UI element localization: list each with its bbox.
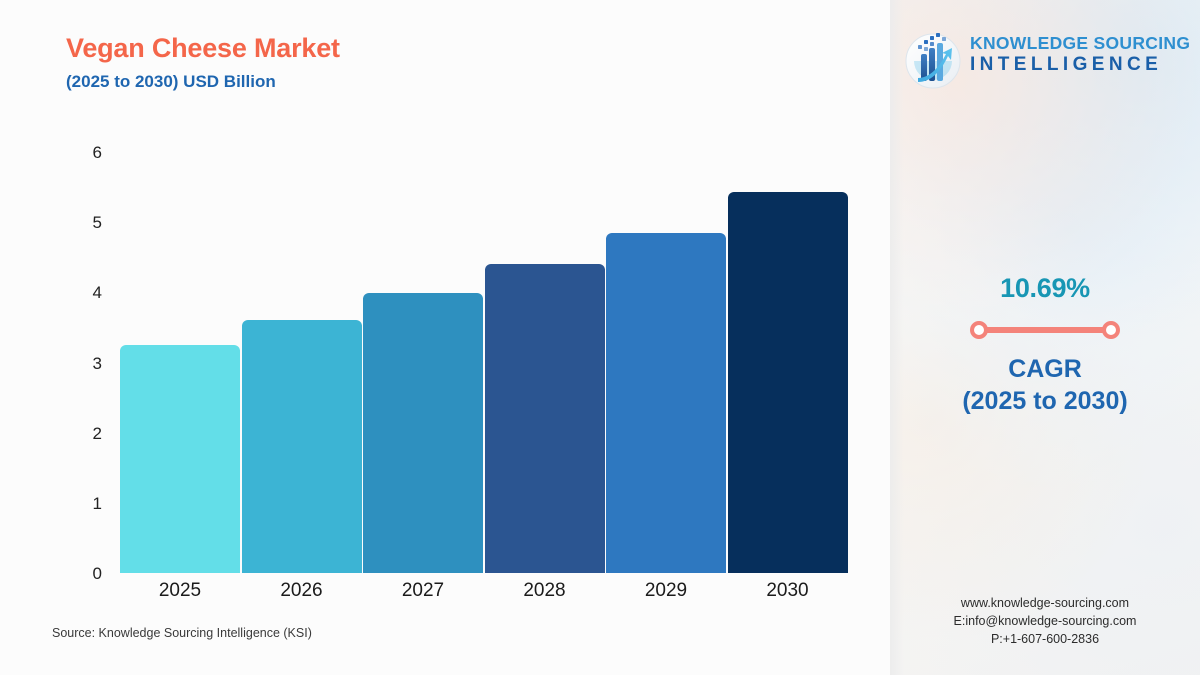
x-axis-tick-label: 2029: [606, 581, 726, 600]
y-axis-tick-label: 4: [62, 284, 102, 301]
y-axis-tick-label: 1: [62, 495, 102, 512]
connector-dot-left: [970, 321, 988, 339]
brand-panel: KNOWLEDGE SOURCING INTELLIGENCE 10.69% C…: [890, 0, 1200, 675]
bar-2027: [363, 293, 483, 573]
x-axis-tick-label: 2030: [728, 581, 848, 600]
chart-panel: Vegan Cheese Market (2025 to 2030) USD B…: [0, 0, 890, 675]
x-axis-tick-label: 2025: [120, 581, 240, 600]
knowledge-sourcing-logo-icon: [902, 28, 964, 90]
bar-2028: [485, 264, 605, 573]
brand-logo-line-2: INTELLIGENCE: [970, 53, 1196, 77]
contact-website[interactable]: www.knowledge-sourcing.com: [890, 594, 1200, 612]
y-axis-tick-label: 3: [62, 355, 102, 372]
contact-phone: P:+1-607-600-2836: [890, 630, 1200, 648]
x-axis-tick-label: 2026: [242, 581, 362, 600]
source-note: Source: Knowledge Sourcing Intelligence …: [52, 626, 312, 640]
contact-block: www.knowledge-sourcing.com E:info@knowle…: [890, 594, 1200, 648]
contact-email[interactable]: E:info@knowledge-sourcing.com: [890, 612, 1200, 630]
connector-dot-right: [1102, 321, 1120, 339]
y-axis-tick-label: 6: [62, 144, 102, 161]
cagr-label: CAGR: [890, 354, 1200, 385]
x-axis-tick-label: 2028: [485, 581, 605, 600]
bar-2026: [242, 320, 362, 573]
cagr-value: 10.69%: [890, 272, 1200, 304]
y-axis-tick-label: 5: [62, 214, 102, 231]
cagr-connector-icon: [970, 318, 1120, 342]
bar-chart-plot: 0123456202520262027202820292030: [0, 0, 890, 675]
infographic-page: Vegan Cheese Market (2025 to 2030) USD B…: [0, 0, 1200, 675]
brand-logo-line-1: KNOWLEDGE SOURCING: [970, 33, 1196, 53]
x-axis-tick-label: 2027: [363, 581, 483, 600]
brand-logo-text: KNOWLEDGE SOURCING INTELLIGENCE: [970, 33, 1196, 77]
brand-logo: KNOWLEDGE SOURCING INTELLIGENCE: [902, 28, 1198, 90]
y-axis-tick-label: 0: [62, 565, 102, 582]
connector-line: [980, 327, 1110, 333]
cagr-block: 10.69% CAGR (2025 to 2030): [890, 272, 1200, 417]
bar-2025: [120, 345, 240, 573]
cagr-period: (2025 to 2030): [890, 386, 1200, 417]
bar-2030: [728, 192, 848, 573]
y-axis-tick-label: 2: [62, 425, 102, 442]
bar-2029: [606, 233, 726, 573]
